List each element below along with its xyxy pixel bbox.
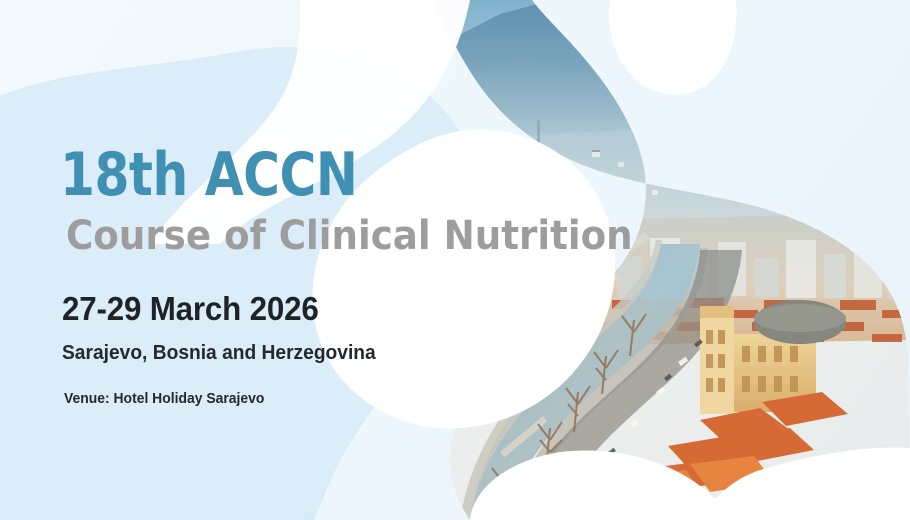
- event-subtitle: Course of Clinical Nutrition: [66, 215, 656, 257]
- event-text-block: 18th ACCN Course of Clinical Nutrition 2…: [60, 146, 700, 407]
- event-venue: Venue: Hotel Holiday Sarajevo: [64, 391, 675, 407]
- event-location: Sarajevo, Bosnia and Herzegovina: [62, 342, 674, 365]
- event-title: 18th ACCN: [60, 146, 655, 205]
- event-dates: 27-29 March 2026: [62, 290, 668, 328]
- conference-banner: 18th ACCN Course of Clinical Nutrition 2…: [0, 0, 910, 520]
